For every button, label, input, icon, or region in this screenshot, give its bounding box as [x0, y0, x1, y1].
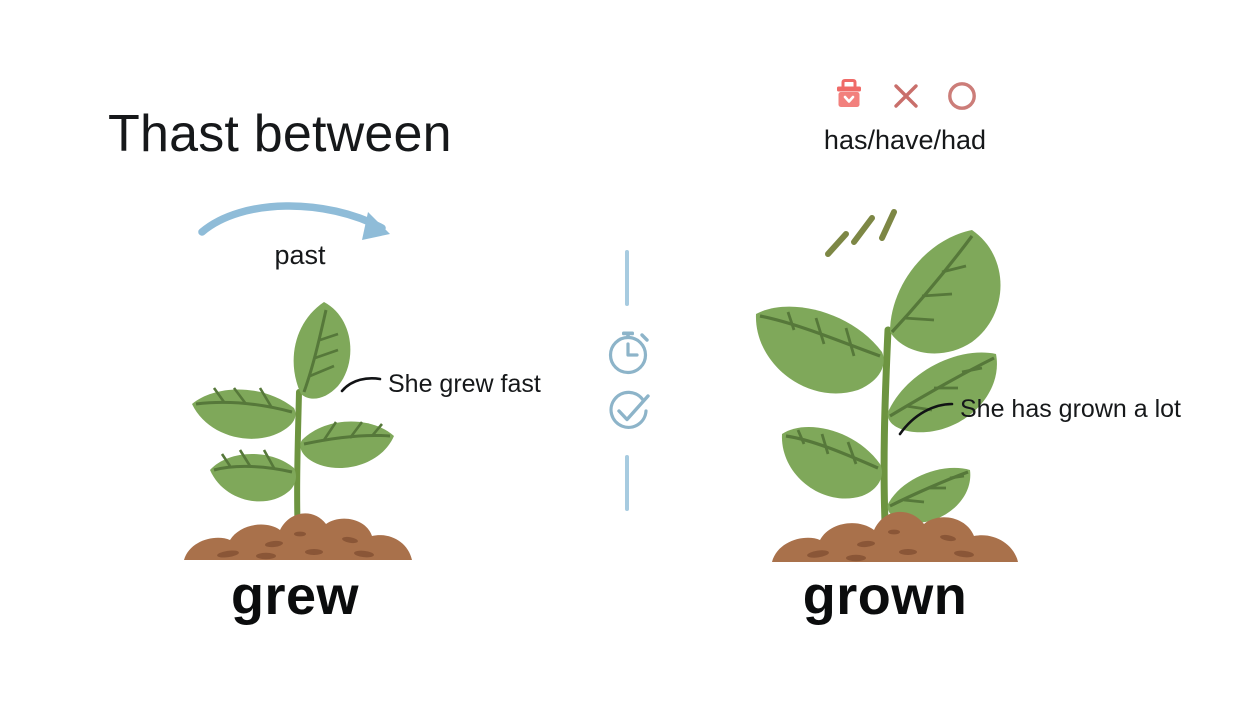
plant-illustration-large [742, 196, 1042, 573]
infographic-canvas: Thast between has/have/had [0, 0, 1248, 702]
callout-leader-line-left [340, 375, 382, 395]
divider-line-bottom [625, 455, 629, 511]
past-label: past [200, 240, 400, 271]
word-label-grew: grew [160, 565, 430, 627]
circle-outline-icon [946, 80, 978, 117]
auxiliary-icon-row [820, 76, 990, 120]
divider-line-top [625, 250, 629, 306]
word-label-grown: grown [740, 565, 1030, 627]
callout-right-text: She has grown a lot [960, 395, 1181, 424]
plant-illustration-small [168, 288, 428, 573]
callout-left-text: She grew fast [388, 370, 541, 399]
auxiliary-caption: has/have/had [760, 125, 1050, 156]
stopwatch-icon [602, 324, 656, 383]
callout-right: She has grown a lot [898, 398, 1181, 438]
x-mark-icon [890, 80, 922, 117]
callout-left: She grew fast [340, 370, 541, 399]
page-title: Thast between [108, 104, 452, 164]
growth-sparkles [828, 212, 894, 254]
toolbox-check-icon [832, 78, 866, 119]
check-circle-icon [602, 384, 656, 443]
callout-leader-line-right [898, 398, 954, 438]
